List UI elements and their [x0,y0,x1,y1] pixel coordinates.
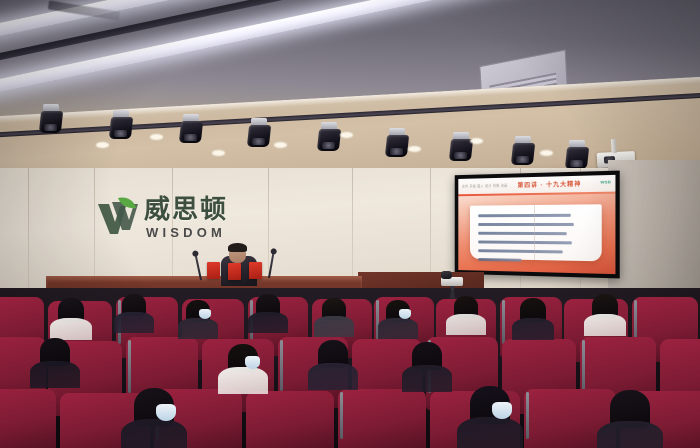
moving-head-stage-light-7 [512,136,534,166]
moving-head-stage-light-6 [450,132,472,162]
attendee-front-2-shoulders [308,363,357,390]
presentation-slide: 文件 开始 插入 设计 切换 动画 第四讲 · 十九大精神 WSD [458,175,615,274]
logo-english-text: WISDOM [146,225,226,240]
audience-row-3-seat-0 [0,392,52,448]
light-lens-icon [44,124,57,131]
soffit-downlight-2 [212,150,225,156]
moving-head-stage-light-2 [180,114,202,144]
slide-text-line-1 [478,223,574,226]
soffit-downlight-0 [96,142,109,148]
conference-hall-photo: 威思顿 WISDOM 文件 开始 插入 设计 切换 动画 第四讲 · 十九大精神… [0,0,700,448]
moving-head-stage-light-8 [566,140,588,170]
slide-text-line-2 [478,232,567,236]
attendee-front-masked-face-mask [245,356,260,369]
video-camera-lens-icon [441,271,452,279]
attendee-front-4-shoulders [457,417,523,448]
wall-logo: 威思顿 WISDOM [96,194,236,246]
podium-red-book-0 [207,262,220,279]
attendee-masked-2-shoulders [378,318,417,339]
soffit-downlight-7 [540,150,553,156]
light-lens-icon [570,160,583,167]
moving-head-stage-light-0 [40,104,62,134]
wisdom-w-leaf-logo-icon [96,196,138,236]
audience-row-3-seat-3 [250,394,330,448]
moving-head-stage-light-3 [248,118,270,148]
attendee-masked-1-shoulders [178,318,217,339]
slide-text-line-3 [478,240,572,244]
light-lens-icon [114,130,127,137]
light-lens-icon [322,142,335,149]
slide-text-line-4 [478,249,562,254]
attendee-dark-3-shoulders [512,318,555,341]
soffit-downlight-4 [340,132,353,138]
slide-title-text: 第四讲 · 十九大精神 [518,179,582,189]
attendee-front-1-shoulders [30,361,79,388]
soffit-downlight-3 [274,142,287,148]
light-lens-icon [252,138,265,145]
attendee-white-2-shoulders [446,314,485,335]
attendee-dark-2-shoulders [248,312,287,333]
slide-book-graphic [470,204,602,261]
attendee-dark-suit-shoulders [114,312,153,333]
moving-head-stage-light-4 [318,122,340,152]
attendee-white-3-shoulders [584,314,627,337]
light-lens-icon [390,148,403,155]
slide-text-line-0 [478,214,571,218]
moving-head-stage-light-1 [110,110,132,140]
podium-red-book-1 [228,263,241,280]
projection-screen: 文件 开始 插入 设计 切换 动画 第四讲 · 十九大精神 WSD [455,171,620,279]
light-lens-icon [184,134,197,141]
light-lens-icon [454,152,467,159]
logo-chinese-text: 威思顿 [144,194,228,224]
attendee-front-masked2-shoulders [121,419,187,448]
soffit-downlight-6 [470,138,483,144]
moving-head-stage-light-5 [386,128,408,158]
presenter-hair [228,243,247,252]
slide-menu-text: 文件 开始 插入 设计 切换 动画 [462,183,508,189]
attendee-gray-shoulders [314,316,353,337]
soffit-downlight-1 [150,134,163,140]
slide-corner-logo: WSD [600,179,611,184]
podium-red-book-2 [249,262,262,279]
attendee-front-masked-shoulders [218,367,267,394]
soffit-downlight-5 [408,146,421,152]
attendee-front-3-shoulders [402,365,451,392]
slide-text-line-5 [478,258,521,262]
audience-row-3-seat-4 [342,392,422,448]
attendee-front-5-shoulders [597,421,663,448]
light-lens-icon [516,156,529,163]
